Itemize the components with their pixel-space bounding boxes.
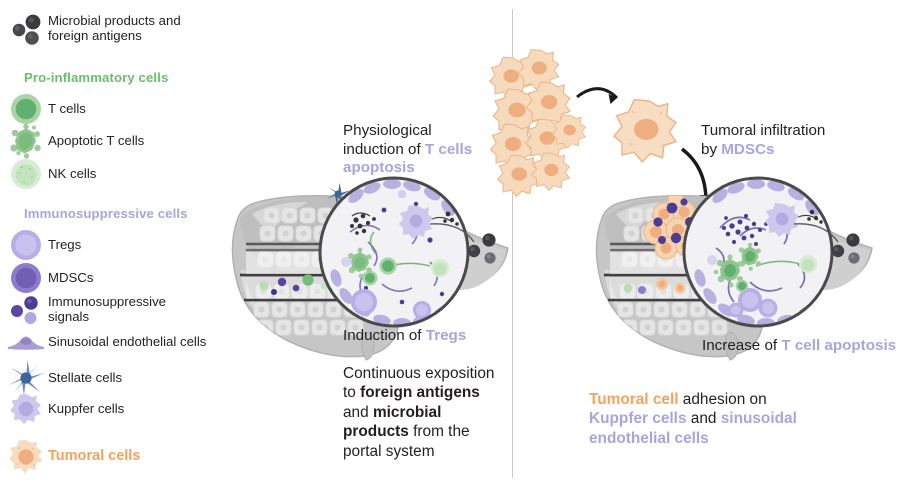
legend-label-immunosuppressive-signals: Immunosuppressive signals (48, 294, 166, 325)
metastasis-arrow (577, 89, 617, 104)
highlight-sinusoidal: sinusoidal (721, 410, 797, 427)
microbial-dots-icon (4, 10, 48, 46)
single-tumoral-cell (614, 100, 676, 162)
highlight-kuppfer-cells: Kuppfer cells (589, 410, 687, 427)
highlight-tregs: Tregs (426, 327, 467, 344)
highlight-t-cells: T cells (425, 141, 472, 158)
legend-label-tumoral-cells: Tumoral cells (48, 449, 140, 465)
right-bottom-caption: Tumoral cell adhesion on Kuppfer cells a… (589, 390, 889, 448)
legend-item-tumoral-cells: Tumoral cells (4, 437, 140, 477)
legend-label-mdscs: MDSCs (48, 270, 93, 286)
left-mid-caption: Induction of Tregs (343, 327, 523, 346)
highlight-apoptosis: apoptosis (343, 159, 415, 176)
legend-label-kuppfer-cells: Kuppfer cells (48, 401, 124, 417)
kuppfer-cell-icon (4, 390, 48, 428)
legend-label-tregs: Tregs (48, 237, 81, 253)
legend-panel: Microbial products and foreign antigens … (0, 0, 250, 487)
legend-heading-pro-inflammatory: Pro-inflammatory cells (24, 70, 168, 85)
left-top-caption: Physiological induction of T cells apopt… (343, 122, 513, 178)
nk-cell-icon (4, 155, 48, 193)
sinusoidal-endothelial-cell-icon (4, 331, 48, 353)
right-liver-illustration (580, 178, 880, 363)
legend-heading-immunosuppressive: Immunosuppressive cells (24, 206, 188, 221)
legend-item-immunosuppressive-signals: Immunosuppressive signals (4, 292, 166, 326)
legend-item-nk-cells: NK cells (4, 155, 96, 193)
highlight-t-cell-apoptosis: T cell apoptosis (781, 337, 896, 354)
highlight-mdscs: MDSCs (721, 141, 774, 158)
legend-label-nk-cells: NK cells (48, 166, 96, 182)
tumor-mass (490, 50, 586, 197)
legend-item-kuppfer-cells: Kuppfer cells (4, 390, 124, 428)
legend-item-microbial-products: Microbial products and foreign antigens (4, 10, 181, 46)
legend-item-sinusoidal-endothelial-cells: Sinusoidal endothelial cells (4, 331, 206, 353)
tumoral-cell-icon (4, 437, 48, 477)
immunosuppressive-signals-icon (4, 292, 48, 326)
highlight-tumoral-cell: Tumoral cell (589, 391, 679, 408)
legend-label-stellate-cells: Stellate cells (48, 370, 122, 386)
right-mid-caption: Increase of T cell apoptosis (702, 337, 912, 356)
right-top-caption: Tumoral infiltration by MDSCs (701, 122, 901, 159)
legend-label-t-cells: T cells (48, 101, 86, 117)
left-bottom-caption: Continuous exposition to foreign antigen… (343, 364, 513, 461)
legend-label-microbial-products: Microbial products and foreign antigens (48, 13, 181, 44)
legend-label-sinusoidal-endothelial-cells: Sinusoidal endothelial cells (48, 334, 206, 350)
legend-label-apoptotic-t-cells: Apoptotic T cells (48, 133, 144, 149)
highlight-endothelial-cells: endothelial cells (589, 430, 709, 447)
